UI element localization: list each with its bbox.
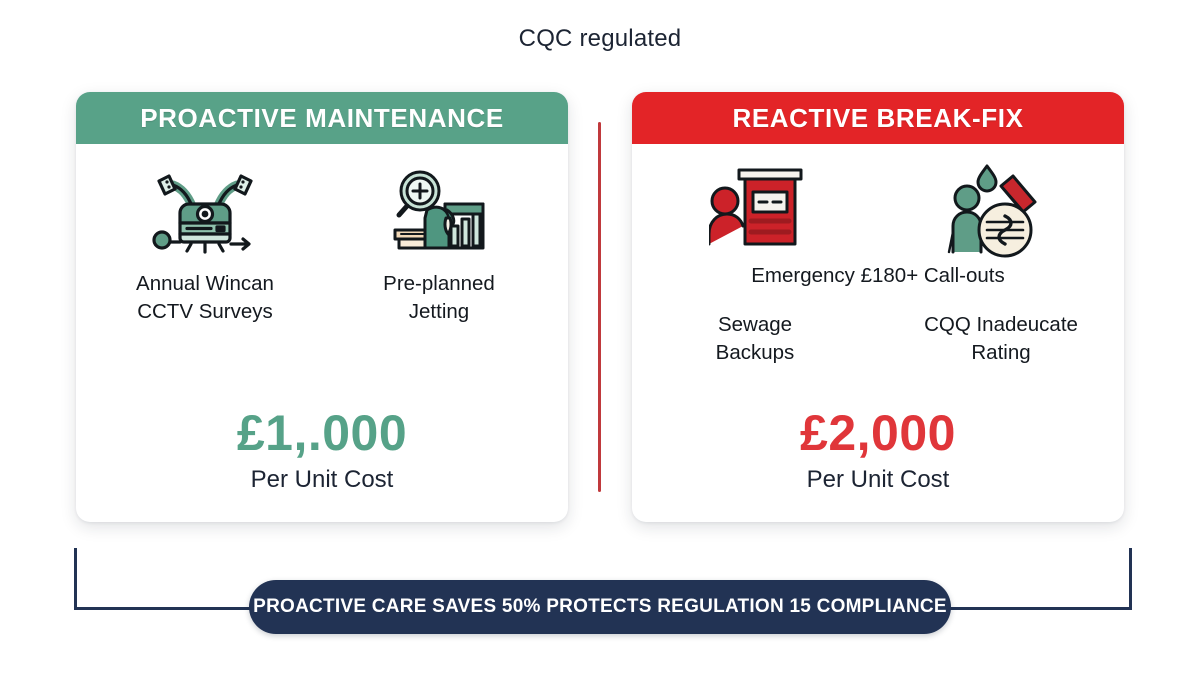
reactive-price-caption: Per Unit Cost bbox=[632, 466, 1124, 494]
proactive-items: Annual Wincan CCTV Surveys bbox=[76, 144, 568, 326]
reactive-item-rating-label: CQQ Inadeucate Rating bbox=[888, 311, 1114, 367]
proactive-item-jetting-label: Pre-planned Jetting bbox=[331, 270, 546, 326]
reactive-item-rating-label-wrap: CQQ Inadeucate Rating bbox=[888, 299, 1114, 367]
proactive-price-caption: Per Unit Cost bbox=[76, 466, 568, 494]
inspector-rating-badge-icon bbox=[887, 162, 1102, 258]
proactive-price-block: £1,.000 Per Unit Cost bbox=[76, 407, 568, 494]
proactive-price: £1,.000 bbox=[76, 407, 568, 460]
proactive-item-cctv: Annual Wincan CCTV Surveys bbox=[97, 162, 312, 326]
reactive-price: £2,000 bbox=[632, 407, 1124, 460]
person-invoice-icon bbox=[653, 162, 868, 258]
cctv-crawler-robot-icon bbox=[97, 162, 312, 258]
card-body-proactive: Annual Wincan CCTV Surveys bbox=[76, 144, 568, 522]
reactive-item-sewage bbox=[653, 162, 868, 258]
reactive-icons bbox=[632, 144, 1124, 258]
vertical-divider bbox=[598, 122, 601, 492]
proactive-maintenance-card: PROACTIVE MAINTENANCE bbox=[76, 92, 568, 522]
reactive-caption: Emergency £180+ Call-outs bbox=[632, 264, 1124, 288]
reactive-price-block: £2,000 Per Unit Cost bbox=[632, 407, 1124, 494]
reactive-item-sewage-label: Sewage Backups bbox=[642, 311, 868, 367]
proactive-item-jetting: Pre-planned Jetting bbox=[331, 162, 546, 326]
infographic-canvas: CQC regulated PROACTIVE MAINTENANCE bbox=[0, 0, 1200, 675]
card-body-reactive: Emergency £180+ Call-outs Sewage Backups… bbox=[632, 144, 1124, 522]
card-header-proactive: PROACTIVE MAINTENANCE bbox=[76, 92, 568, 144]
card-header-reactive: REACTIVE BREAK-FIX bbox=[632, 92, 1124, 144]
summary-banner: PROACTIVE CARE SAVES 50% PROTECTS REGULA… bbox=[249, 580, 951, 634]
page-title: CQC regulated bbox=[0, 25, 1200, 53]
reactive-break-fix-card: REACTIVE BREAK-FIX bbox=[632, 92, 1124, 522]
magnifier-chart-books-icon bbox=[331, 162, 546, 258]
proactive-item-cctv-label: Annual Wincan CCTV Surveys bbox=[97, 270, 312, 326]
reactive-labels: Sewage Backups CQQ Inadeucate Rating bbox=[632, 299, 1124, 367]
reactive-item-sewage-label-wrap: Sewage Backups bbox=[642, 299, 868, 367]
reactive-item-rating bbox=[887, 162, 1102, 258]
